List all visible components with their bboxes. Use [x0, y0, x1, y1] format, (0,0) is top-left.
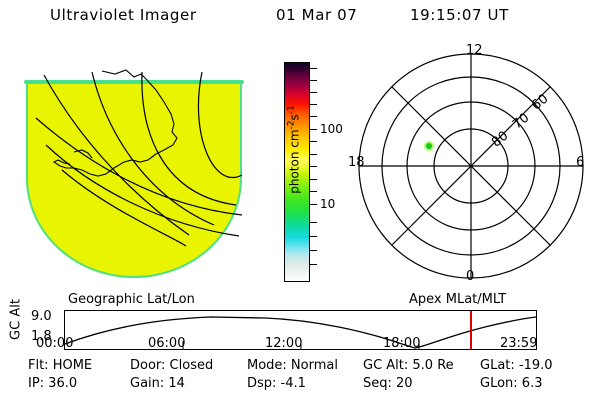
time-tick-2359: 23:59: [500, 336, 537, 351]
status-flight: Flt: HOME: [28, 358, 92, 373]
time-tick-1200: 12:00: [265, 336, 302, 351]
auroral-image-panel: [14, 50, 254, 286]
mlt-label-6: 6: [576, 156, 584, 169]
polar-grid: [350, 42, 592, 290]
colorbar-axis-label-exp1: -2: [287, 120, 297, 129]
status-dsp: Dsp: -4.1: [247, 376, 306, 391]
spacecraft-footpoint-marker: [426, 143, 432, 149]
colorbar-axis-label-mid: s: [288, 114, 302, 120]
mlt-label-0: 0: [466, 270, 474, 283]
status-gain: Gain: 14: [130, 376, 185, 391]
time-tick-0600: 06:00: [148, 336, 185, 351]
colorbar-tick-label-100: 100: [320, 123, 343, 135]
time-tick-0000: 00:00: [36, 336, 73, 351]
status-gc-alt: GC Alt: 5.0 Re: [363, 358, 454, 373]
observation-date: 01 Mar 07: [276, 6, 357, 24]
strip-title-apex: Apex MLat/MLT: [409, 292, 506, 307]
orbit-track-strip: Geographic Lat/Lon Apex MLat/MLT GC Alt …: [0, 292, 600, 354]
colorbar-axis-label-main: photon cm: [288, 129, 302, 193]
gc-alt-tick-high: 9.0: [31, 309, 52, 324]
colorbar-tick-label-10: 10: [320, 198, 335, 210]
status-ip: IP: 36.0: [28, 376, 77, 391]
colorbar-axis-label: photon cm-2s-1: [287, 60, 302, 240]
mlt-label-18: 18: [348, 156, 365, 169]
status-seq: Seq: 20: [363, 376, 413, 391]
observation-time: 19:15:07 UT: [410, 6, 509, 24]
status-glon: GLon: 6.3: [480, 376, 542, 391]
header-bar: Ultraviolet Imager 01 Mar 07 19:15:07 UT: [0, 6, 600, 30]
colorbar-axis-label-exp2: -1: [287, 105, 297, 114]
status-readout: Flt: HOME Door: Closed Mode: Normal GC A…: [0, 358, 600, 398]
instrument-title: Ultraviolet Imager: [50, 6, 197, 24]
colorbar-panel: 100 10 photon cm-2s-1: [264, 50, 348, 290]
gc-alt-axis-label: GC Alt: [9, 290, 24, 350]
mlt-label-12: 12: [466, 44, 483, 57]
time-cursor[interactable]: [470, 311, 472, 349]
status-glat: GLat: -19.0: [480, 358, 553, 373]
status-door: Door: Closed: [130, 358, 213, 373]
coastline-and-grid-overlay: [14, 50, 254, 286]
strip-title-geographic: Geographic Lat/Lon: [68, 292, 195, 307]
time-tick-1800: 18:00: [383, 336, 420, 351]
polar-mlat-mlt-plot: 12 6 0 18 80 70 60: [350, 42, 592, 290]
uvi-quicklook-window: Ultraviolet Imager 01 Mar 07 19:15:07 UT: [0, 0, 600, 400]
status-mode: Mode: Normal: [247, 358, 338, 373]
